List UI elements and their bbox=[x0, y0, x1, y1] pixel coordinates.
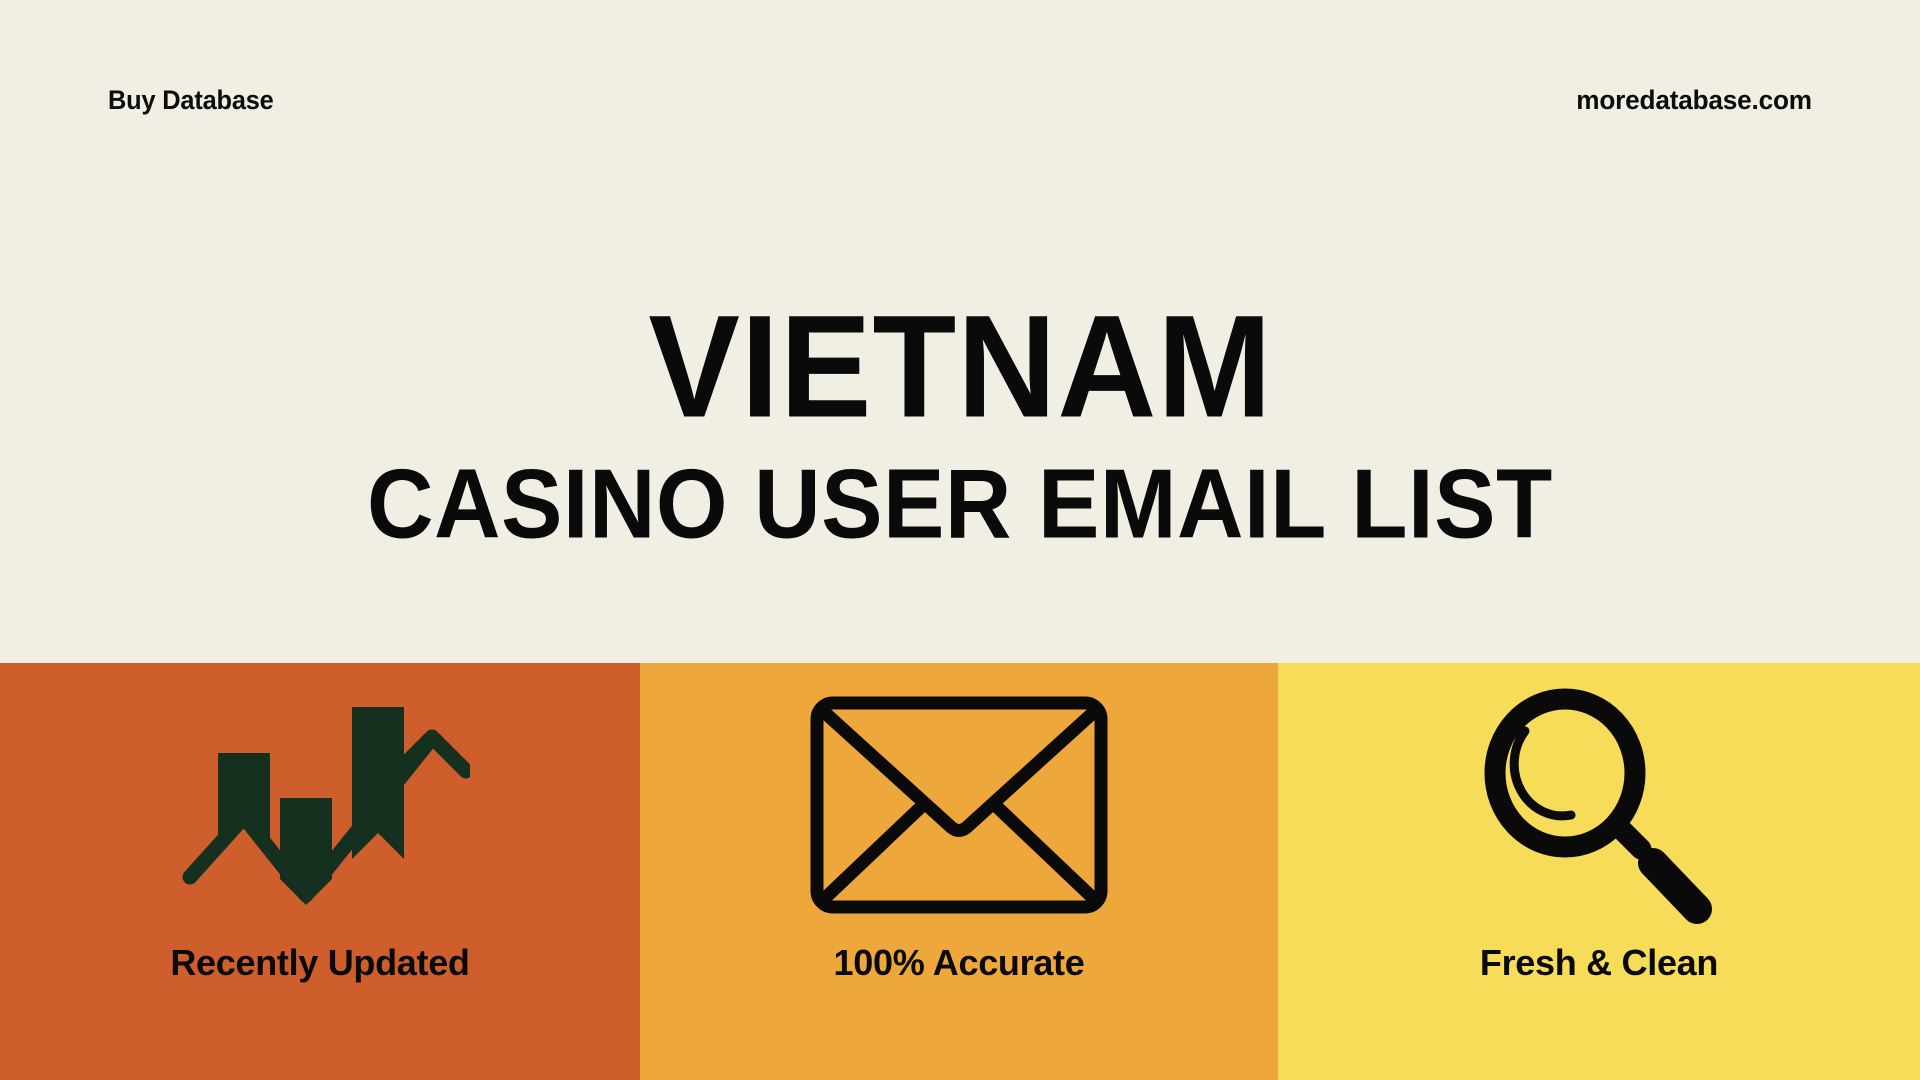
bar-chart-growth-arrow-icon bbox=[170, 681, 470, 929]
envelope-icon bbox=[799, 681, 1119, 929]
feature-label-recently-updated: Recently Updated bbox=[170, 945, 469, 981]
website-label: moredatabase.com bbox=[1576, 87, 1812, 114]
feature-panels: Recently Updated 100% Accurate bbox=[0, 663, 1920, 1080]
page-subtitle: CASINO USER EMAIL LIST bbox=[367, 455, 1553, 554]
header-bar: Buy Database moredatabase.com bbox=[0, 0, 1920, 200]
feature-label-fresh-clean: Fresh & Clean bbox=[1480, 945, 1718, 981]
feature-panel-accurate: 100% Accurate bbox=[640, 663, 1278, 1080]
title-block: VIETNAM CASINO USER EMAIL LIST bbox=[0, 300, 1920, 548]
hero-section: Buy Database moredatabase.com VIETNAM CA… bbox=[0, 0, 1920, 663]
page-title: VIETNAM bbox=[648, 300, 1272, 434]
brand-label: Buy Database bbox=[108, 87, 274, 114]
email-list-banner: Buy Database moredatabase.com VIETNAM CA… bbox=[0, 0, 1920, 1080]
feature-panel-fresh-clean: Fresh & Clean bbox=[1278, 663, 1920, 1080]
feature-label-accurate: 100% Accurate bbox=[834, 945, 1085, 981]
feature-panel-recently-updated: Recently Updated bbox=[0, 663, 640, 1080]
magnifying-glass-icon bbox=[1479, 681, 1719, 929]
